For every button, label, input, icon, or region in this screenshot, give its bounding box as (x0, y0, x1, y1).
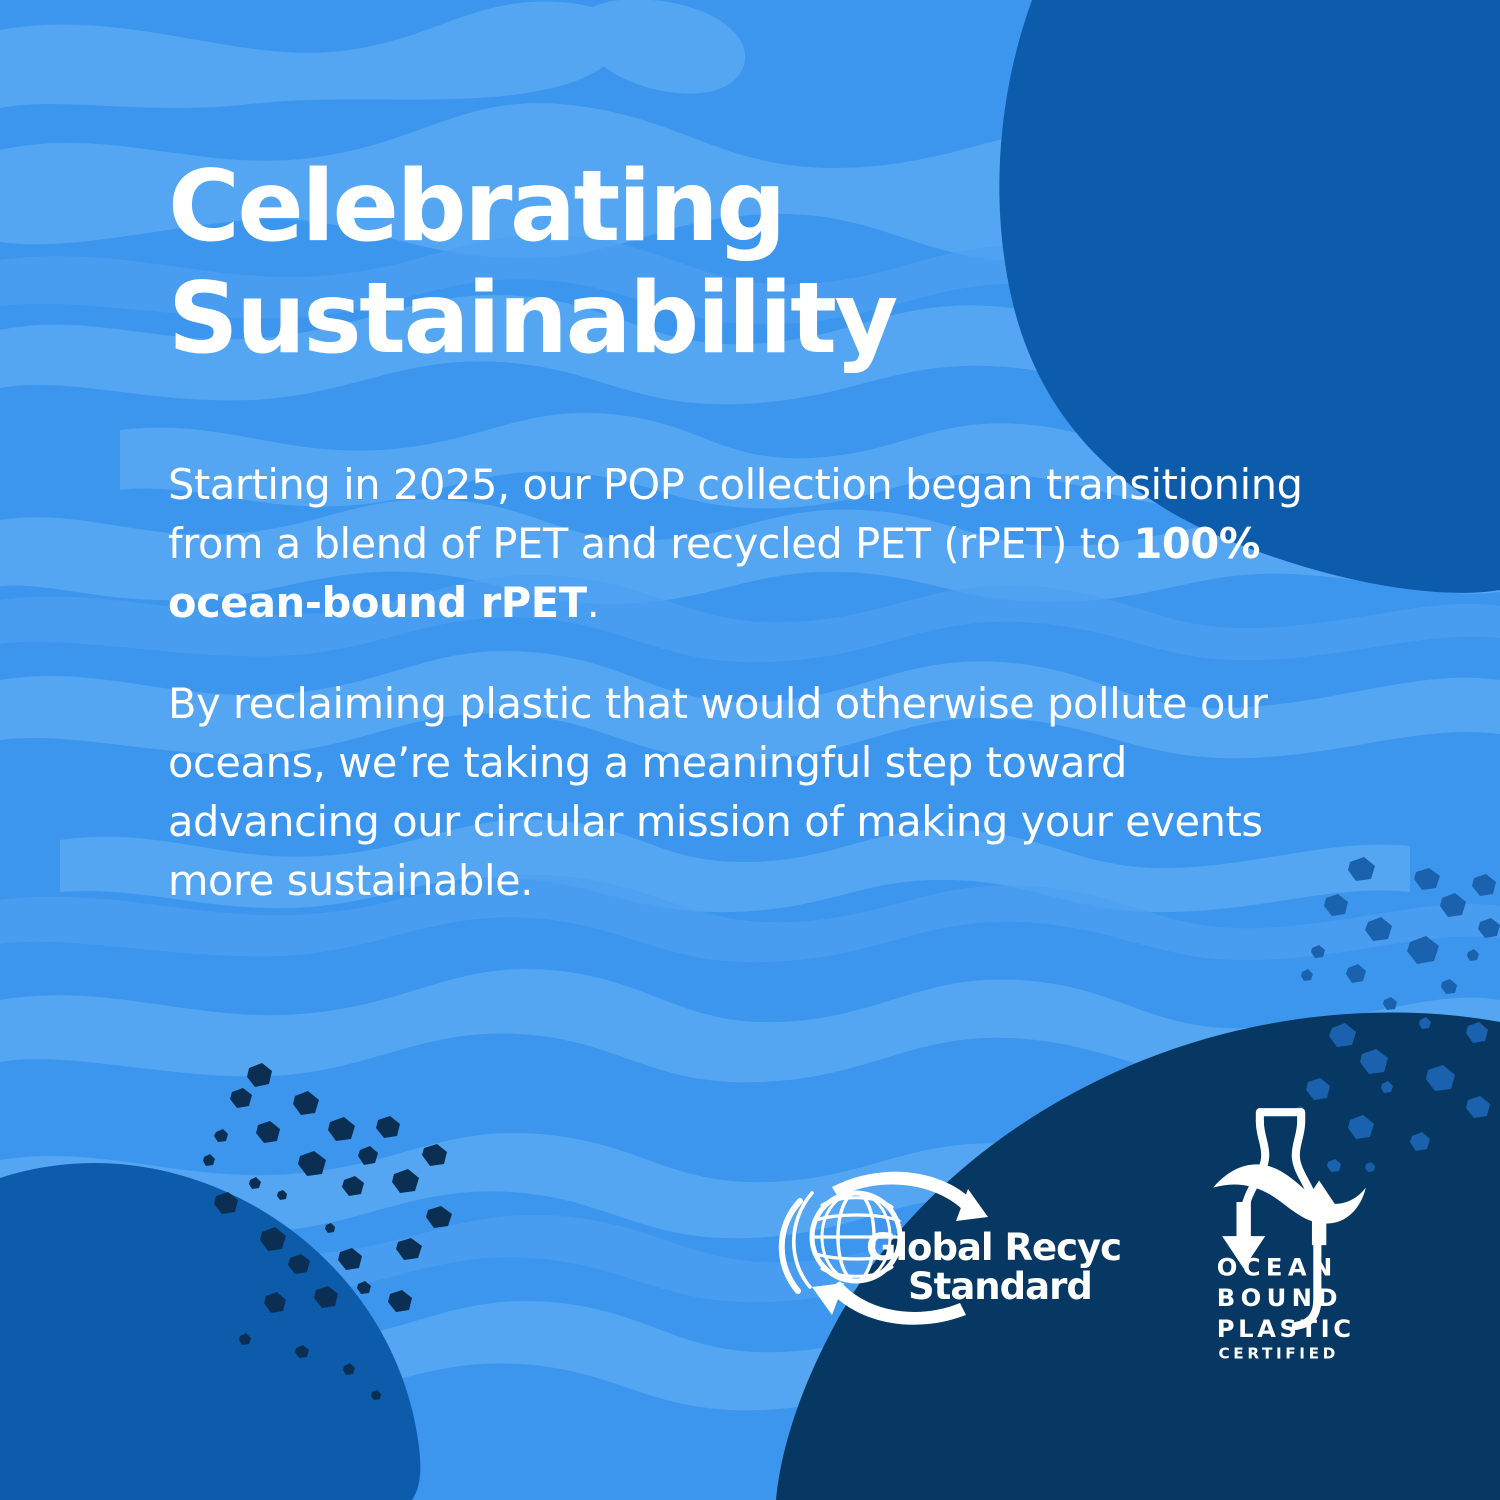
body-copy: Starting in 2025, our POP collection beg… (168, 456, 1348, 910)
headline-line-1: Celebrating (168, 152, 1228, 264)
paragraph-1: Starting in 2025, our POP collection beg… (168, 456, 1348, 633)
obp-line-1: OCEAN (1217, 1253, 1338, 1282)
obp-line-4: CERTIFIED (1219, 1344, 1339, 1362)
paragraph-1-text-after: . (587, 578, 600, 627)
page-title: Celebrating Sustainability (168, 152, 1228, 375)
sustainability-poster: Celebrating Sustainability Starting in 2… (0, 0, 1500, 1500)
headline-line-2: Sustainability (168, 264, 1228, 376)
obp-line-2: BOUND (1217, 1283, 1343, 1312)
grs-line-2: Standard (908, 1265, 1092, 1308)
global-recycled-standard-logo: Global Recycled Standard (770, 1165, 1120, 1330)
certification-logo-row: Global Recycled Standard OCEAN BOUND (760, 1105, 1400, 1375)
paragraph-2: By reclaiming plastic that would otherwi… (168, 675, 1348, 911)
obp-line-3: PLASTIC (1217, 1314, 1355, 1343)
grs-line-1: Global Recycled (866, 1226, 1120, 1269)
ocean-bound-plastic-logo: OCEAN BOUND PLASTIC CERTIFIED (1185, 1105, 1385, 1370)
obp-wordmark: OCEAN BOUND PLASTIC (1217, 1253, 1355, 1343)
grs-wordmark: Global Recycled Standard (866, 1226, 1120, 1308)
